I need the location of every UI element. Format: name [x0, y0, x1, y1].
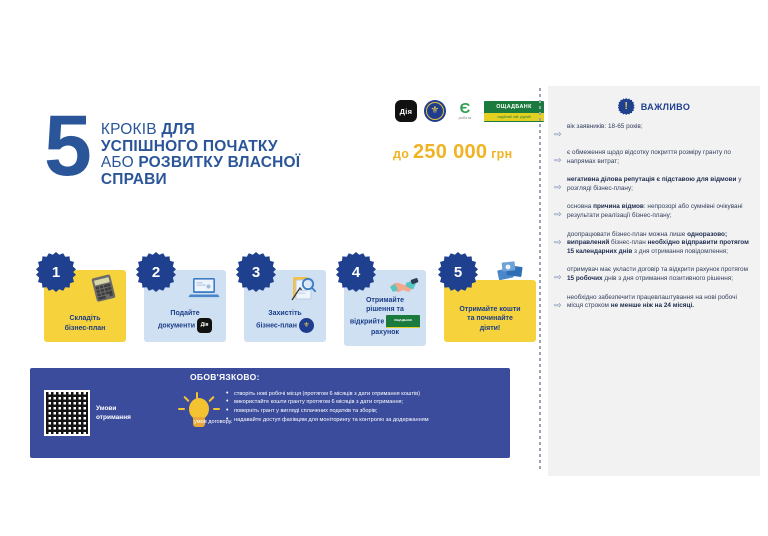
step-card-5: 5 Отримайте кошти та починайте діяти!: [444, 280, 536, 342]
qr-label-line1: Умови: [96, 404, 146, 413]
document-magnifier-icon: [287, 274, 321, 302]
step-label-2-line2: документи Дія: [148, 318, 222, 333]
step-label-3: Захистіть бізнес-план ⚜: [244, 309, 326, 334]
step-label-1-line1: Складіть: [48, 314, 122, 324]
qr-label-line2: отримання: [96, 413, 146, 422]
important-text-run: доопрацювати бізнес-план можна лише: [567, 231, 687, 238]
mandatory-tail-text: умов договору.: [194, 419, 232, 425]
headline-text: КРОКІВ ДЛЯ УСПІШНОГО ПОЧАТКУ АБО РОЗВИТК…: [101, 122, 300, 188]
arrow-bullet-icon: ⇨: [554, 237, 567, 247]
headline-line-1: КРОКІВ ДЛЯ: [101, 122, 300, 139]
important-item-text: вік заявників: 18-65 років;: [567, 123, 752, 132]
arrow-bullet-icon: ⇨: [554, 129, 567, 139]
star-badge-icon: 5: [438, 252, 478, 292]
important-list: ⇨вік заявників: 18-65 років;⇨є обмеження…: [548, 123, 760, 311]
step-card-1: 1: [44, 270, 126, 342]
amount-prefix: до: [393, 147, 413, 161]
important-item-text: отримувач має укласти договір та відкрит…: [567, 266, 752, 283]
oschadbank-tagline: надійний. мій. рідний: [484, 113, 544, 121]
headline-line-3: АБО РОЗВИТКУ ВЛАСНОЇ: [101, 155, 300, 172]
important-item-text: необхідно забезпечити працевлаштування н…: [567, 294, 752, 311]
arrow-bullet-icon: ⇨: [554, 272, 567, 282]
step-label-4-line4: рахунок: [348, 328, 422, 338]
step-label-4-line3: відкрийте ОЩАДБАНК: [348, 315, 422, 328]
step-label-5-line3: діяти!: [448, 324, 532, 334]
list-item: створіть нові робочі місця (протягом 6 м…: [226, 391, 526, 398]
laptop-icon: [187, 274, 221, 302]
steps-row: 1: [30, 252, 510, 352]
arrow-bullet-icon: ⇨: [554, 300, 567, 310]
important-list-item: ⇨отримувач має укласти договір та відкри…: [554, 266, 752, 283]
diia-logo: Дія: [395, 100, 417, 122]
erobota-symbol: Є: [460, 102, 471, 116]
list-item: поверніть грант у вигляді сплачених пода…: [226, 408, 526, 415]
erobota-subtitle: робота: [459, 116, 472, 120]
amount-currency: грн: [487, 147, 512, 161]
step-label-4-line1: Отримайте: [348, 296, 422, 306]
step-label-3-line2-text: бізнес-план: [256, 322, 297, 329]
headline-line-2: УСПІШНОГО ПОЧАТКУ: [101, 139, 300, 156]
important-text-run: бізнес-план: [609, 239, 647, 246]
oschadbank-name: ОЩАДБАНК: [496, 104, 532, 110]
logo-row: Дія ⚜ Є робота ОЩАДБАНК надійний. мій. р…: [395, 100, 544, 122]
money-icon: [494, 258, 528, 286]
headline-line-2-bold: УСПІШНОГО ПОЧАТКУ: [101, 138, 278, 155]
vertical-dotted-divider: [539, 88, 541, 470]
qr-code-pattern: [46, 392, 88, 434]
exclamation-badge-icon: !: [618, 98, 635, 115]
step-card-4: 4 Отримайте рішення та відкрийте ОЩАДБАН…: [344, 270, 426, 346]
important-text-run: вік заявників: 18-65 років;: [567, 123, 643, 130]
important-panel: ! ВАЖЛИВО ⇨вік заявників: 18-65 років;⇨є…: [548, 86, 760, 476]
infographic-canvas: 5 КРОКІВ ДЛЯ УСПІШНОГО ПОЧАТКУ АБО РОЗВИ…: [0, 0, 768, 536]
headline-block: 5 КРОКІВ ДЛЯ УСПІШНОГО ПОЧАТКУ АБО РОЗВИ…: [44, 116, 300, 188]
step-card-3: 3 Захистіть бізнес-план ⚜: [244, 270, 326, 342]
step-label-3-line1: Захистіть: [248, 309, 322, 319]
mandatory-title: ОБОВ'ЯЗКОВО:: [190, 372, 260, 382]
qr-code-label: Умови отримання: [96, 404, 146, 422]
headline-line-4-bold: СПРАВИ: [101, 171, 167, 188]
step-number-3: 3: [252, 265, 260, 280]
step-label-5-line1: Отримайте кошти: [448, 305, 532, 315]
calculator-icon: [87, 274, 121, 302]
step-label-4-line3-text: відкрийте: [350, 318, 384, 325]
oschadbank-logo: ОЩАДБАНК надійний. мій. рідний: [484, 101, 544, 122]
step-label-1-line2: бізнес-план: [48, 324, 122, 334]
important-list-item: ⇨негативна ділова репутація є підставою …: [554, 176, 752, 193]
important-item-text: негативна ділова репутація є підставою д…: [567, 176, 752, 193]
ministry-emblem-inline-icon: ⚜: [299, 318, 314, 333]
important-text-emphasis: не менше ніж на 24 місяці.: [611, 302, 694, 309]
important-text-run: є обмеження щодо відсотку покриття розмі…: [567, 149, 731, 165]
step-label-4: Отримайте рішення та відкрийте ОЩАДБАНК …: [344, 296, 426, 338]
headline-line-3-bold: РОЗВИТКУ ВЛАСНОЇ: [138, 154, 300, 171]
step-number-1: 1: [52, 265, 60, 280]
important-list-item: ⇨вік заявників: 18-65 років;: [554, 123, 752, 139]
important-text-emphasis: 15 робочих: [567, 275, 603, 282]
oschadbank-logo-inline: ОЩАДБАНК: [386, 315, 420, 328]
step-badge-4: 4: [336, 252, 376, 292]
important-item-text: основна причина відмов: непрозорі або су…: [567, 203, 752, 220]
important-text-emphasis: негативна ділова репутація є підставою д…: [567, 176, 736, 183]
list-item: надавайте доступ фахівцям для моніторинг…: [226, 417, 526, 424]
important-item-text: доопрацювати бізнес-план можна лише одно…: [567, 231, 752, 257]
step-label-3-line2: бізнес-план ⚜: [248, 318, 322, 333]
important-item-text: є обмеження щодо відсотку покриття розмі…: [567, 149, 752, 166]
step-label-4-line2: рішення та: [348, 305, 422, 315]
important-text-run: днів з дня отримання позитивного рішення…: [603, 275, 733, 282]
star-badge-icon: 2: [136, 252, 176, 292]
step-badge-2: 2: [136, 252, 176, 292]
step-badge-5: 5: [438, 252, 478, 292]
step-badge-1: 1: [36, 252, 76, 292]
headline-line-3-light: АБО: [101, 154, 139, 171]
bulb-ray: [178, 408, 185, 410]
mandatory-list: створіть нові робочі місця (протягом 6 м…: [186, 391, 526, 426]
step-label-2-line1: Подайте: [148, 309, 222, 319]
important-list-item: ⇨необхідно забезпечити працевлаштування …: [554, 294, 752, 311]
important-text-emphasis: причина відмов: [593, 203, 644, 210]
star-badge-icon: 4: [336, 252, 376, 292]
arrow-bullet-icon: ⇨: [554, 209, 567, 219]
important-header: ! ВАЖЛИВО: [548, 98, 760, 115]
important-list-item: ⇨є обмеження щодо відсотку покриття розм…: [554, 149, 752, 166]
step-label-5-line2: та починайте: [448, 314, 532, 324]
star-badge-icon: 1: [36, 252, 76, 292]
step-label-2: Подайте документи Дія: [144, 309, 226, 334]
star-badge-icon: 3: [236, 252, 276, 292]
headline-line-1-bold: ДЛЯ: [161, 121, 195, 138]
headline-line-1-light: КРОКІВ: [101, 121, 161, 138]
grant-amount: до 250 000 грн: [393, 141, 512, 164]
step-number-5: 5: [454, 265, 462, 280]
step-number-4: 4: [352, 265, 360, 280]
step-label-2-line2-text: документи: [158, 322, 195, 329]
step-number-2: 2: [152, 265, 160, 280]
arrow-bullet-icon: ⇨: [554, 182, 567, 192]
important-text-run: з дня отримання повідомлення;: [632, 248, 728, 255]
amount-value: 250 000: [413, 141, 487, 163]
qr-code[interactable]: [44, 390, 90, 436]
step-badge-3: 3: [236, 252, 276, 292]
step-label-1: Складіть бізнес-план: [44, 314, 126, 333]
diia-logo-inline: Дія: [197, 318, 212, 333]
important-title: ВАЖЛИВО: [641, 102, 691, 112]
emblem-glyph: ⚜: [431, 106, 440, 116]
headline-number: 5: [44, 110, 89, 182]
list-item: використайте кошти гранту протягом 6 міс…: [226, 399, 526, 406]
oschadbank-inline-name: ОЩАДБАНК: [386, 316, 420, 326]
important-list-item: ⇨доопрацювати бізнес-план можна лише одн…: [554, 231, 752, 257]
important-text-run: основна: [567, 203, 593, 210]
ministry-emblem-icon: ⚜: [424, 100, 446, 122]
step-card-2: 2 Подайте документи Дія: [144, 270, 226, 342]
headline-line-4: СПРАВИ: [101, 172, 300, 189]
arrow-bullet-icon: ⇨: [554, 155, 567, 165]
erobota-logo: Є робота: [453, 102, 477, 120]
step-label-5: Отримайте кошти та починайте діяти!: [444, 305, 536, 334]
exclamation-glyph: !: [625, 102, 628, 112]
important-text-run: отримувач має укласти договір та відкрит…: [567, 266, 748, 273]
important-list-item: ⇨основна причина відмов: непрозорі або с…: [554, 203, 752, 220]
